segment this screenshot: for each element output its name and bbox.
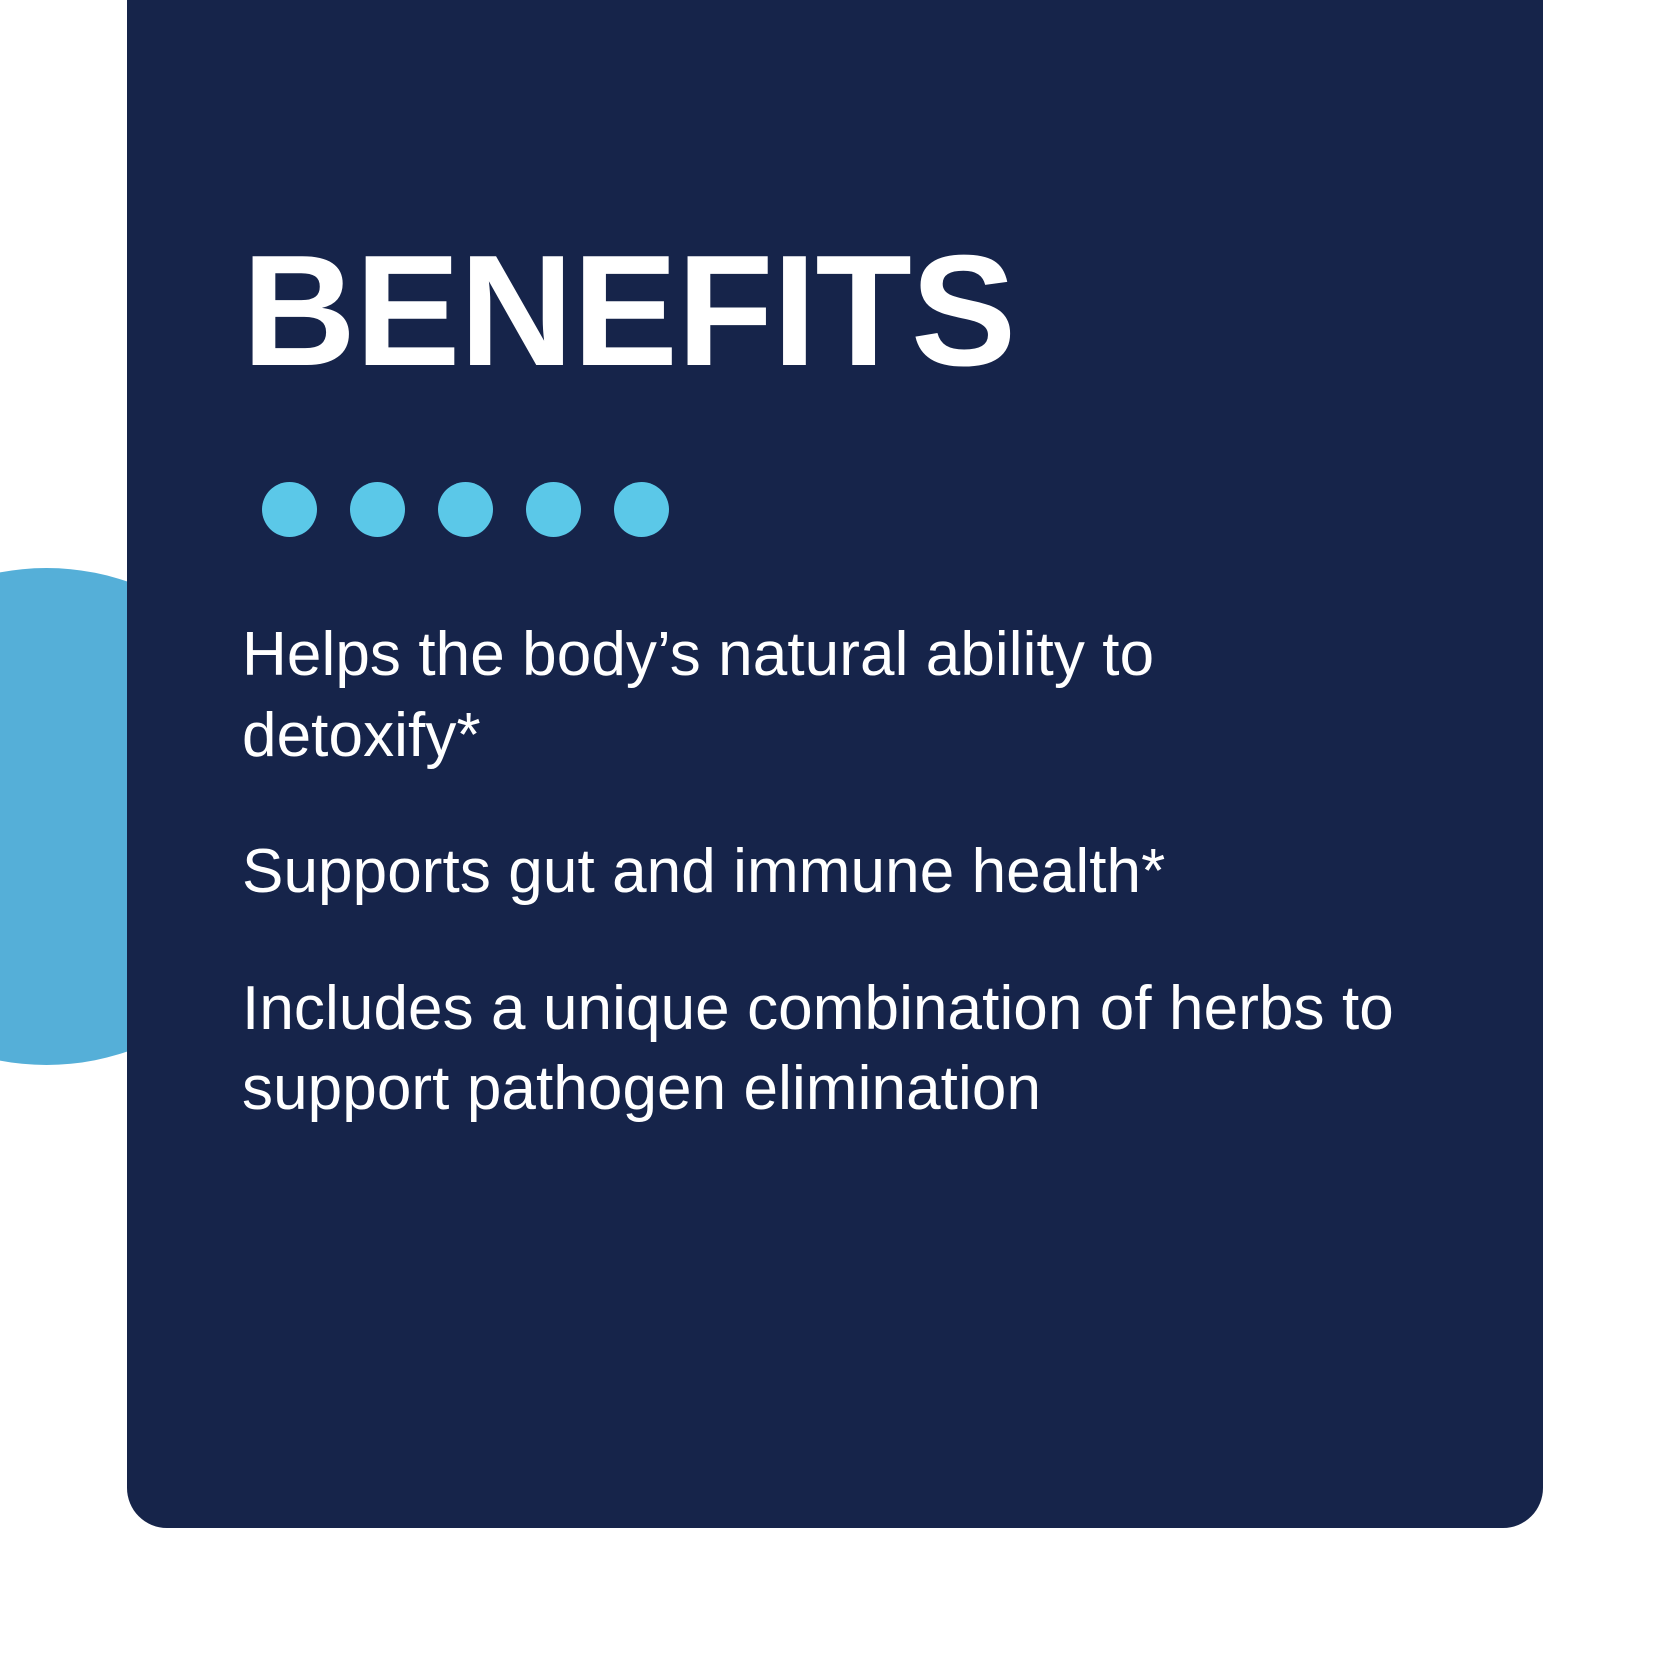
benefits-card-stage: BENEFITS Helps the body’s natural abilit… <box>0 0 1680 1680</box>
page-title: BENEFITS <box>242 0 1483 390</box>
divider-dot-1 <box>262 482 317 537</box>
benefit-item: Helps the body’s natural ability to deto… <box>242 615 1402 776</box>
benefits-card-content: BENEFITS Helps the body’s natural abilit… <box>242 0 1483 1130</box>
divider-dot-5 <box>614 482 669 537</box>
dot-divider <box>262 482 1483 537</box>
benefits-list: Helps the body’s natural ability to deto… <box>242 615 1483 1130</box>
divider-dot-2 <box>350 482 405 537</box>
divider-dot-3 <box>438 482 493 537</box>
benefits-card: BENEFITS Helps the body’s natural abilit… <box>127 0 1543 1528</box>
benefit-item: Supports gut and immune health* <box>242 832 1402 913</box>
divider-dot-4 <box>526 482 581 537</box>
benefit-item: Includes a unique combination of herbs t… <box>242 969 1402 1130</box>
